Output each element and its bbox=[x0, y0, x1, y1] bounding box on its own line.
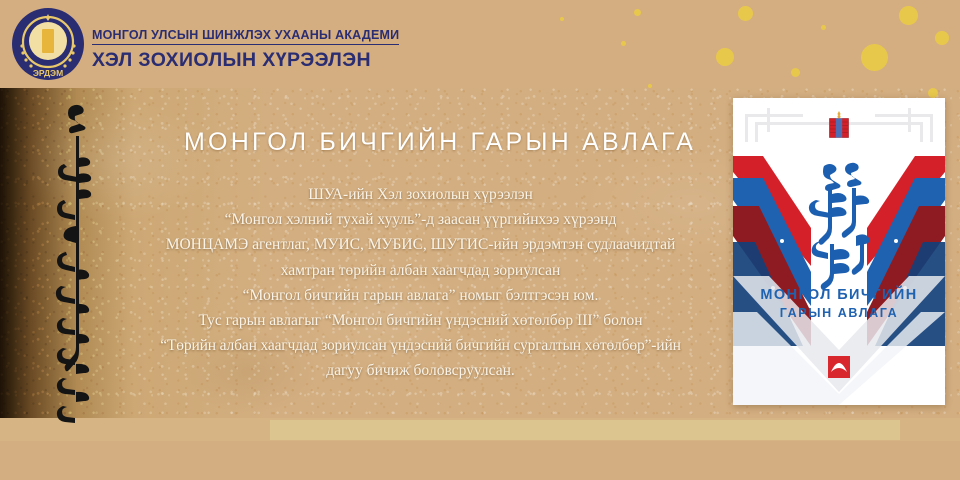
frame-line bbox=[755, 122, 758, 142]
page-title: МОНГОЛ БИЧГИЙН ГАРЫН АВЛАГА bbox=[150, 128, 730, 157]
frame-line bbox=[755, 122, 803, 125]
institute-name: ХЭЛ ЗОХИОЛЫН ХҮРЭЭЛЭН bbox=[92, 48, 399, 72]
slide-root: ЭРДЭМ МОНГОЛ УЛСЫН ШИНЖЛЭХ УХААНЫ АКАДЕМ… bbox=[0, 0, 960, 480]
paragraph-line: “Монгол хэлний тухай хууль”-д заасан үүр… bbox=[108, 207, 733, 232]
cover-title-block: МОНГОЛ БИЧГИЙН ГАРЫН АВЛАГА bbox=[733, 286, 945, 322]
frame-line bbox=[930, 114, 933, 142]
frame-line bbox=[908, 108, 911, 132]
paragraph-line: МОНЦАМЭ агентлаг, МУИС, МУБИС, ШУТИС-ийн… bbox=[108, 232, 733, 257]
paragraph-line: хамтран төрийн албан хаагчдад зориулсан bbox=[108, 258, 733, 283]
book-cover-image: МОНГОЛ БИЧГИЙН ГАРЫН АВЛАГА bbox=[733, 98, 945, 405]
frame-line bbox=[875, 114, 933, 117]
mongolia-flag-emblem-icon bbox=[828, 111, 850, 138]
frame-line bbox=[767, 108, 770, 132]
cover-title-line1: МОНГОЛ БИЧГИЙН bbox=[733, 286, 945, 304]
description-paragraph: ШУА-ийн Хэл зохиолын хүрээлэн “Монгол хэ… bbox=[108, 182, 733, 384]
frame-line bbox=[745, 114, 748, 142]
academy-name: МОНГОЛ УЛСЫН ШИНЖЛЭХ УХААНЫ АКАДЕМИ bbox=[92, 28, 399, 45]
bottom-inner-highlight-strip bbox=[270, 420, 900, 440]
paragraph-line: “Төрийн албан хаагчдад зориулсан үндэсни… bbox=[108, 333, 733, 358]
bottom-band bbox=[0, 441, 960, 480]
frame-line bbox=[745, 114, 803, 117]
erdem-label: ЭРДЭМ bbox=[33, 68, 63, 78]
paragraph-line: ШУА-ийн Хэл зохиолын хүрээлэн bbox=[108, 182, 733, 207]
mongolian-script-glyphs-icon bbox=[52, 100, 100, 425]
paragraph-line: “Монгол бичгийн гарын авлага” номыг бэлт… bbox=[108, 283, 733, 308]
erdem-emblem-icon: ЭРДЭМ bbox=[10, 6, 86, 82]
institute-title-block: МОНГОЛ УЛСЫН ШИНЖЛЭХ УХААНЫ АКАДЕМИ ХЭЛ … bbox=[92, 26, 399, 72]
paragraph-line: Тус гарын авлагыг “Монгол бичгийн үндэсн… bbox=[108, 308, 733, 333]
academy-logo: ЭРДЭМ bbox=[10, 6, 86, 82]
frame-line bbox=[920, 122, 923, 142]
vertical-mongolian-script bbox=[52, 100, 100, 425]
paragraph-line: дагуу бичиж боловсруулсан. bbox=[108, 358, 733, 383]
frame-line bbox=[875, 122, 923, 125]
publisher-logo-icon bbox=[828, 356, 850, 378]
cover-title-line2: ГАРЫН АВЛАГА bbox=[733, 305, 945, 322]
cover-mongolian-script-title bbox=[802, 160, 876, 290]
